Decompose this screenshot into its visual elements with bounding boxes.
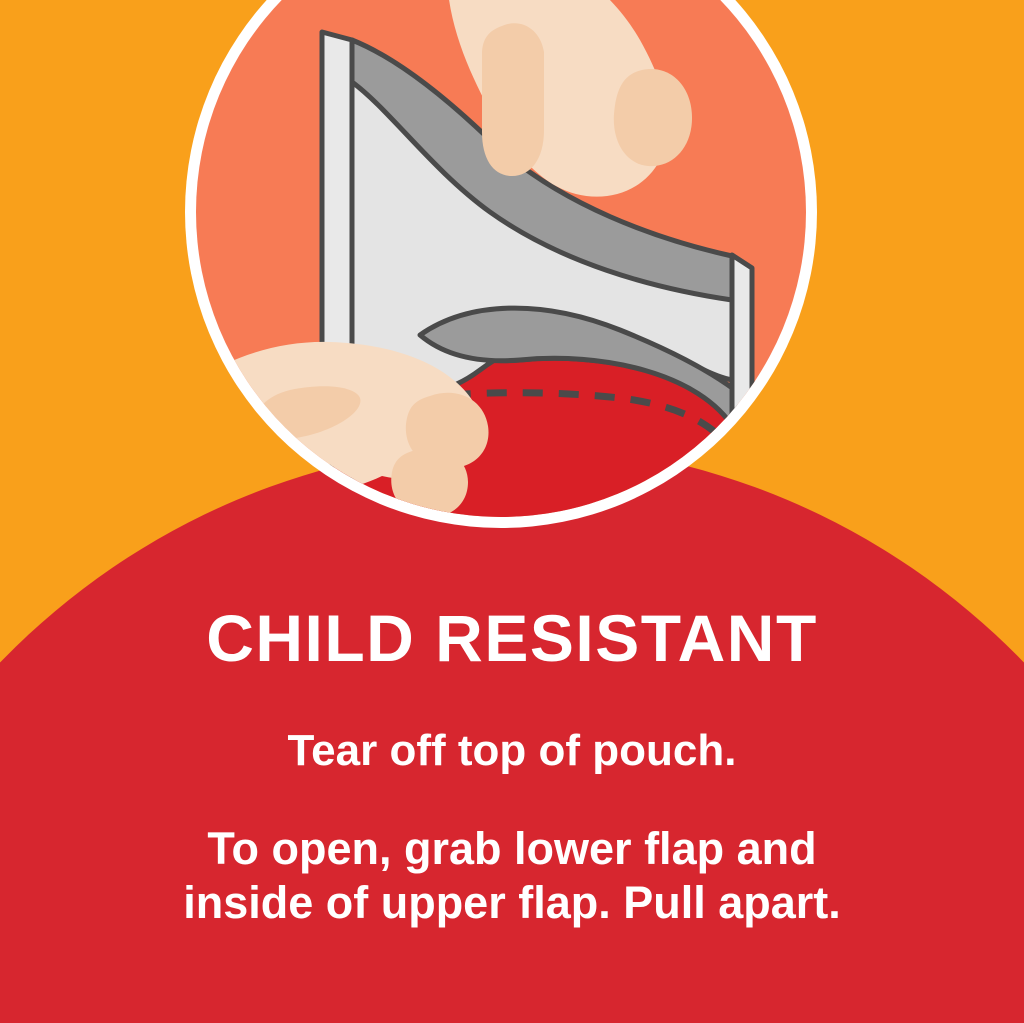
upper-hand-knuckle	[614, 69, 692, 166]
upper-hand-index-finger	[482, 23, 544, 176]
instruction-line-2a: To open, grab lower flap and	[0, 822, 1024, 876]
instruction-line-2b: inside of upper flap. Pull apart.	[0, 876, 1024, 930]
poster-canvas: CHILD RESISTANT Tear off top of pouch. T…	[0, 0, 1024, 1023]
instruction-block-2: To open, grab lower flap and inside of u…	[0, 822, 1024, 930]
page-title: CHILD RESISTANT	[0, 605, 1024, 671]
pouch-upper-spine	[322, 32, 352, 358]
instruction-line-1: Tear off top of pouch.	[0, 728, 1024, 774]
